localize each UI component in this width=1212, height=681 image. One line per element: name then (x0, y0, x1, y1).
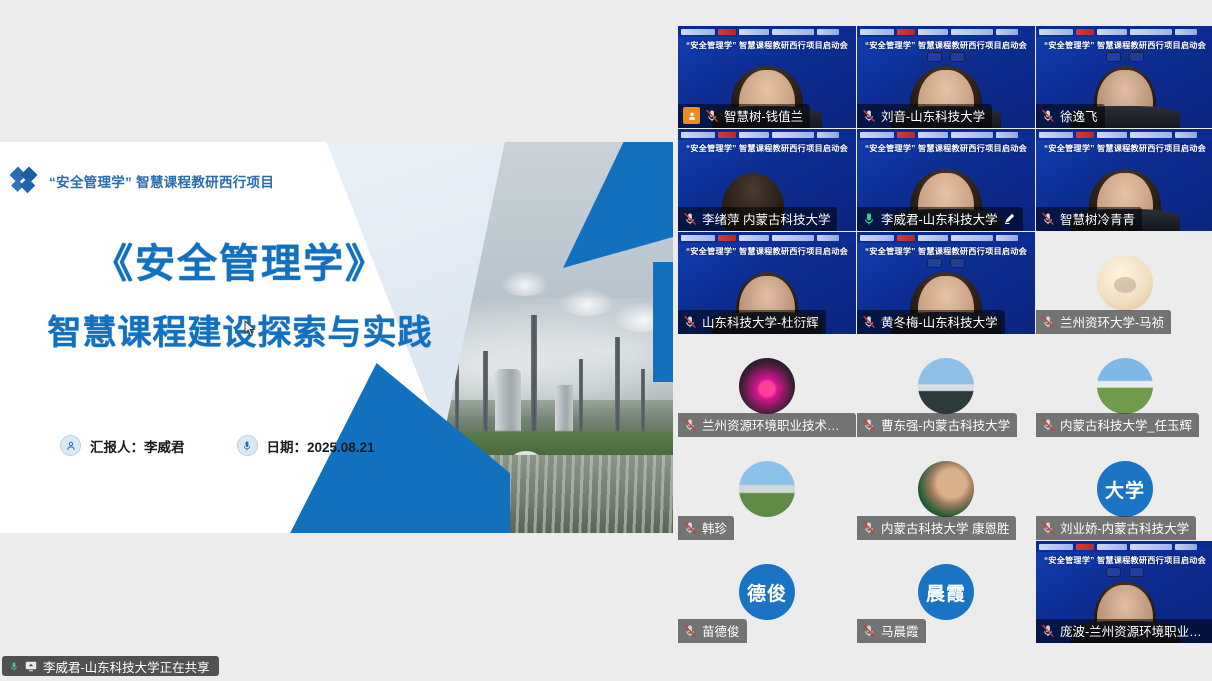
sharing-status-text: 李威君-山东科技大学正在共享 (43, 657, 210, 676)
participant-grid: “安全管理学” 智慧课程教研西行项目启动会 智慧树-钱值兰 “安全管理学” 智慧… (678, 26, 1212, 648)
microphone-muted-icon[interactable] (862, 109, 876, 123)
avatar-image (918, 358, 974, 414)
participant-nameplate: 内蒙古科技大学 康恩胜 (857, 516, 1016, 540)
avatar-initials: 晨霞 (918, 564, 974, 620)
participant-nameplate: 兰州资环大学-马祯 (1036, 310, 1171, 334)
microphone-muted-icon[interactable] (683, 521, 697, 535)
avatar-initials: 德俊 (739, 564, 795, 620)
slide-shape-mid-right (653, 262, 673, 382)
participant-nameplate: 曹东强-内蒙古科技大学 (857, 413, 1017, 437)
participant-name: 庞波-兰州资源环境职业技术大学 (1060, 621, 1207, 640)
slide-meta-presenter: 汇报人：李威君 (60, 435, 185, 456)
participant-tile[interactable]: 内蒙古科技大学 康恩胜 (857, 438, 1035, 540)
participant-nameplate: 智慧树冷青青 (1036, 207, 1142, 231)
avatar-image (739, 358, 795, 414)
participant-name: 山东科技大学-杜衍辉 (702, 312, 819, 331)
participant-tile[interactable]: “安全管理学” 智慧课程教研西行项目启动会 庞波-兰州资源环境职业技术大学 (1036, 541, 1212, 643)
slide-title-block: 《安全管理学》 智慧课程建设探索与实践 (0, 242, 480, 353)
microphone-muted-icon[interactable] (683, 315, 697, 329)
participant-tile[interactable]: “安全管理学” 智慧课程教研西行项目启动会 李威君-山东科技大学 (857, 129, 1035, 231)
avatar-image (739, 461, 795, 517)
participant-tile[interactable]: “安全管理学” 智慧课程教研西行项目启动会 山东科技大学-杜衍辉 (678, 232, 856, 334)
participant-name: 苗德俊 (702, 621, 740, 640)
participant-tile[interactable]: 曹东强-内蒙古科技大学 (857, 335, 1035, 437)
participant-name: 李绪萍 内蒙古科技大学 (702, 209, 830, 228)
slide-header: “安全管理学” 智慧课程教研西行项目 (10, 168, 274, 194)
participant-nameplate: 庞波-兰州资源环境职业技术大学 (1036, 619, 1212, 643)
slide-meta-date: 日期：2025.08.21 (237, 435, 375, 456)
participant-tile[interactable]: 德俊 苗德俊 (678, 541, 856, 643)
participant-nameplate: 刘音-山东科技大学 (857, 104, 992, 128)
microphone-muted-icon[interactable] (683, 418, 697, 432)
participant-name: 徐逸飞 (1060, 106, 1098, 125)
participant-name: 李威君-山东科技大学 (881, 209, 998, 228)
participant-name: 韩珍 (702, 518, 727, 537)
meeting-window: “安全管理学” 智慧课程教研西行项目 《安全管理学》 智慧课程建设探索与实践 汇… (0, 0, 1212, 681)
microphone-muted-icon[interactable] (683, 624, 697, 638)
participant-tile[interactable]: “安全管理学” 智慧课程教研西行项目启动会 智慧树冷青青 (1036, 129, 1212, 231)
participant-tile[interactable]: “安全管理学” 智慧课程教研西行项目启动会 黄冬梅-山东科技大学 (857, 232, 1035, 334)
microphone-muted-icon[interactable] (1041, 521, 1055, 535)
annotation-pencil-icon[interactable] (1003, 212, 1016, 225)
participant-tile[interactable]: 内蒙古科技大学_任玉辉 (1036, 335, 1212, 437)
microphone-muted-icon[interactable] (862, 418, 876, 432)
participant-nameplate: 内蒙古科技大学_任玉辉 (1036, 413, 1199, 437)
participant-tile[interactable]: “安全管理学” 智慧课程教研西行项目启动会 李绪萍 内蒙古科技大学 (678, 129, 856, 231)
participant-tile[interactable]: 晨霞 马晨霞 (857, 541, 1035, 643)
microphone-muted-icon[interactable] (1041, 109, 1055, 123)
glasses-detail (927, 258, 965, 268)
participant-name: 智慧树-钱值兰 (724, 106, 803, 125)
avatar-image (1097, 255, 1153, 311)
participant-name: 曹东强-内蒙古科技大学 (881, 415, 1010, 434)
participant-name: 刘音-山东科技大学 (881, 106, 985, 125)
mouse-cursor-icon (244, 320, 256, 342)
participant-tile[interactable]: “安全管理学” 智慧课程教研西行项目启动会 刘音-山东科技大学 (857, 26, 1035, 128)
participant-nameplate: 苗德俊 (678, 619, 747, 643)
microphone-muted-icon[interactable] (862, 624, 876, 638)
participant-nameplate: 黄冬梅-山东科技大学 (857, 310, 1005, 334)
participant-nameplate: 马晨霞 (857, 619, 926, 643)
participant-name: 黄冬梅-山东科技大学 (881, 312, 998, 331)
participant-tile[interactable]: “安全管理学” 智慧课程教研西行项目启动会 智慧树-钱值兰 (678, 26, 856, 128)
microphone-icon (9, 660, 19, 673)
participant-nameplate: 李绪萍 内蒙古科技大学 (678, 207, 837, 231)
microphone-icon (237, 435, 258, 456)
participant-name: 兰州资源环境职业技术大... (702, 415, 849, 434)
participant-nameplate: 徐逸飞 (1036, 104, 1105, 128)
slide-title-line2: 智慧课程建设探索与实践 (0, 314, 480, 353)
participant-tile[interactable]: 韩珍 (678, 438, 856, 540)
glasses-detail (1106, 52, 1144, 62)
participant-nameplate: 李威君-山东科技大学 (857, 207, 1023, 231)
shared-screen-area[interactable]: “安全管理学” 智慧课程教研西行项目 《安全管理学》 智慧课程建设探索与实践 汇… (0, 0, 678, 681)
avatar-image (1097, 358, 1153, 414)
screen-share-icon (25, 661, 37, 672)
slide-title-line1: 《安全管理学》 (0, 242, 480, 286)
participant-tile[interactable]: 大学 刘业娇-内蒙古科技大学 (1036, 438, 1212, 540)
participant-name: 内蒙古科技大学 康恩胜 (881, 518, 1009, 537)
glasses-detail (1106, 567, 1144, 577)
presentation-slide: “安全管理学” 智慧课程教研西行项目 《安全管理学》 智慧课程建设探索与实践 汇… (0, 142, 673, 533)
microphone-muted-icon[interactable] (862, 315, 876, 329)
diamond-logo-icon (10, 168, 38, 194)
microphone-muted-icon[interactable] (1041, 315, 1055, 329)
participant-name: 内蒙古科技大学_任玉辉 (1060, 415, 1192, 434)
sharing-status-badge[interactable]: 李威君-山东科技大学正在共享 (2, 656, 219, 676)
participant-tile[interactable]: 兰州资源环境职业技术大... (678, 335, 856, 437)
host-badge-icon (683, 107, 700, 124)
participant-nameplate: 刘业娇-内蒙古科技大学 (1036, 516, 1196, 540)
microphone-muted-icon[interactable] (1041, 418, 1055, 432)
microphone-muted-icon[interactable] (705, 109, 719, 123)
microphone-muted-icon[interactable] (683, 212, 697, 226)
glasses-detail (927, 52, 965, 62)
participant-name: 刘业娇-内蒙古科技大学 (1060, 518, 1189, 537)
microphone-muted-icon[interactable] (1041, 212, 1055, 226)
participant-nameplate: 兰州资源环境职业技术大... (678, 413, 856, 437)
participant-nameplate: 韩珍 (678, 516, 734, 540)
participant-grid-panel[interactable]: “安全管理学” 智慧课程教研西行项目启动会 智慧树-钱值兰 “安全管理学” 智慧… (678, 0, 1212, 681)
microphone-muted-icon[interactable] (862, 521, 876, 535)
avatar-image (918, 461, 974, 517)
microphone-icon[interactable] (862, 212, 876, 226)
participant-name: 兰州资环大学-马祯 (1060, 312, 1164, 331)
participant-tile[interactable]: 兰州资环大学-马祯 (1036, 232, 1212, 334)
slide-meta-row: 汇报人：李威君 日期：2025.08.21 (60, 435, 375, 456)
participant-nameplate: 山东科技大学-杜衍辉 (678, 310, 826, 334)
participant-nameplate: 智慧树-钱值兰 (678, 104, 810, 128)
participant-name: 智慧树冷青青 (1060, 209, 1135, 228)
avatar-initials: 大学 (1097, 461, 1153, 517)
person-icon (60, 435, 81, 456)
microphone-muted-icon[interactable] (1041, 624, 1055, 638)
slide-meta-presenter-label: 汇报人：李威君 (90, 436, 185, 456)
participant-tile[interactable]: “安全管理学” 智慧课程教研西行项目启动会 徐逸飞 (1036, 26, 1212, 128)
participant-name: 马晨霞 (881, 621, 919, 640)
slide-header-text: “安全管理学” 智慧课程教研西行项目 (49, 171, 274, 191)
slide-meta-date-label: 日期：2025.08.21 (267, 436, 375, 456)
